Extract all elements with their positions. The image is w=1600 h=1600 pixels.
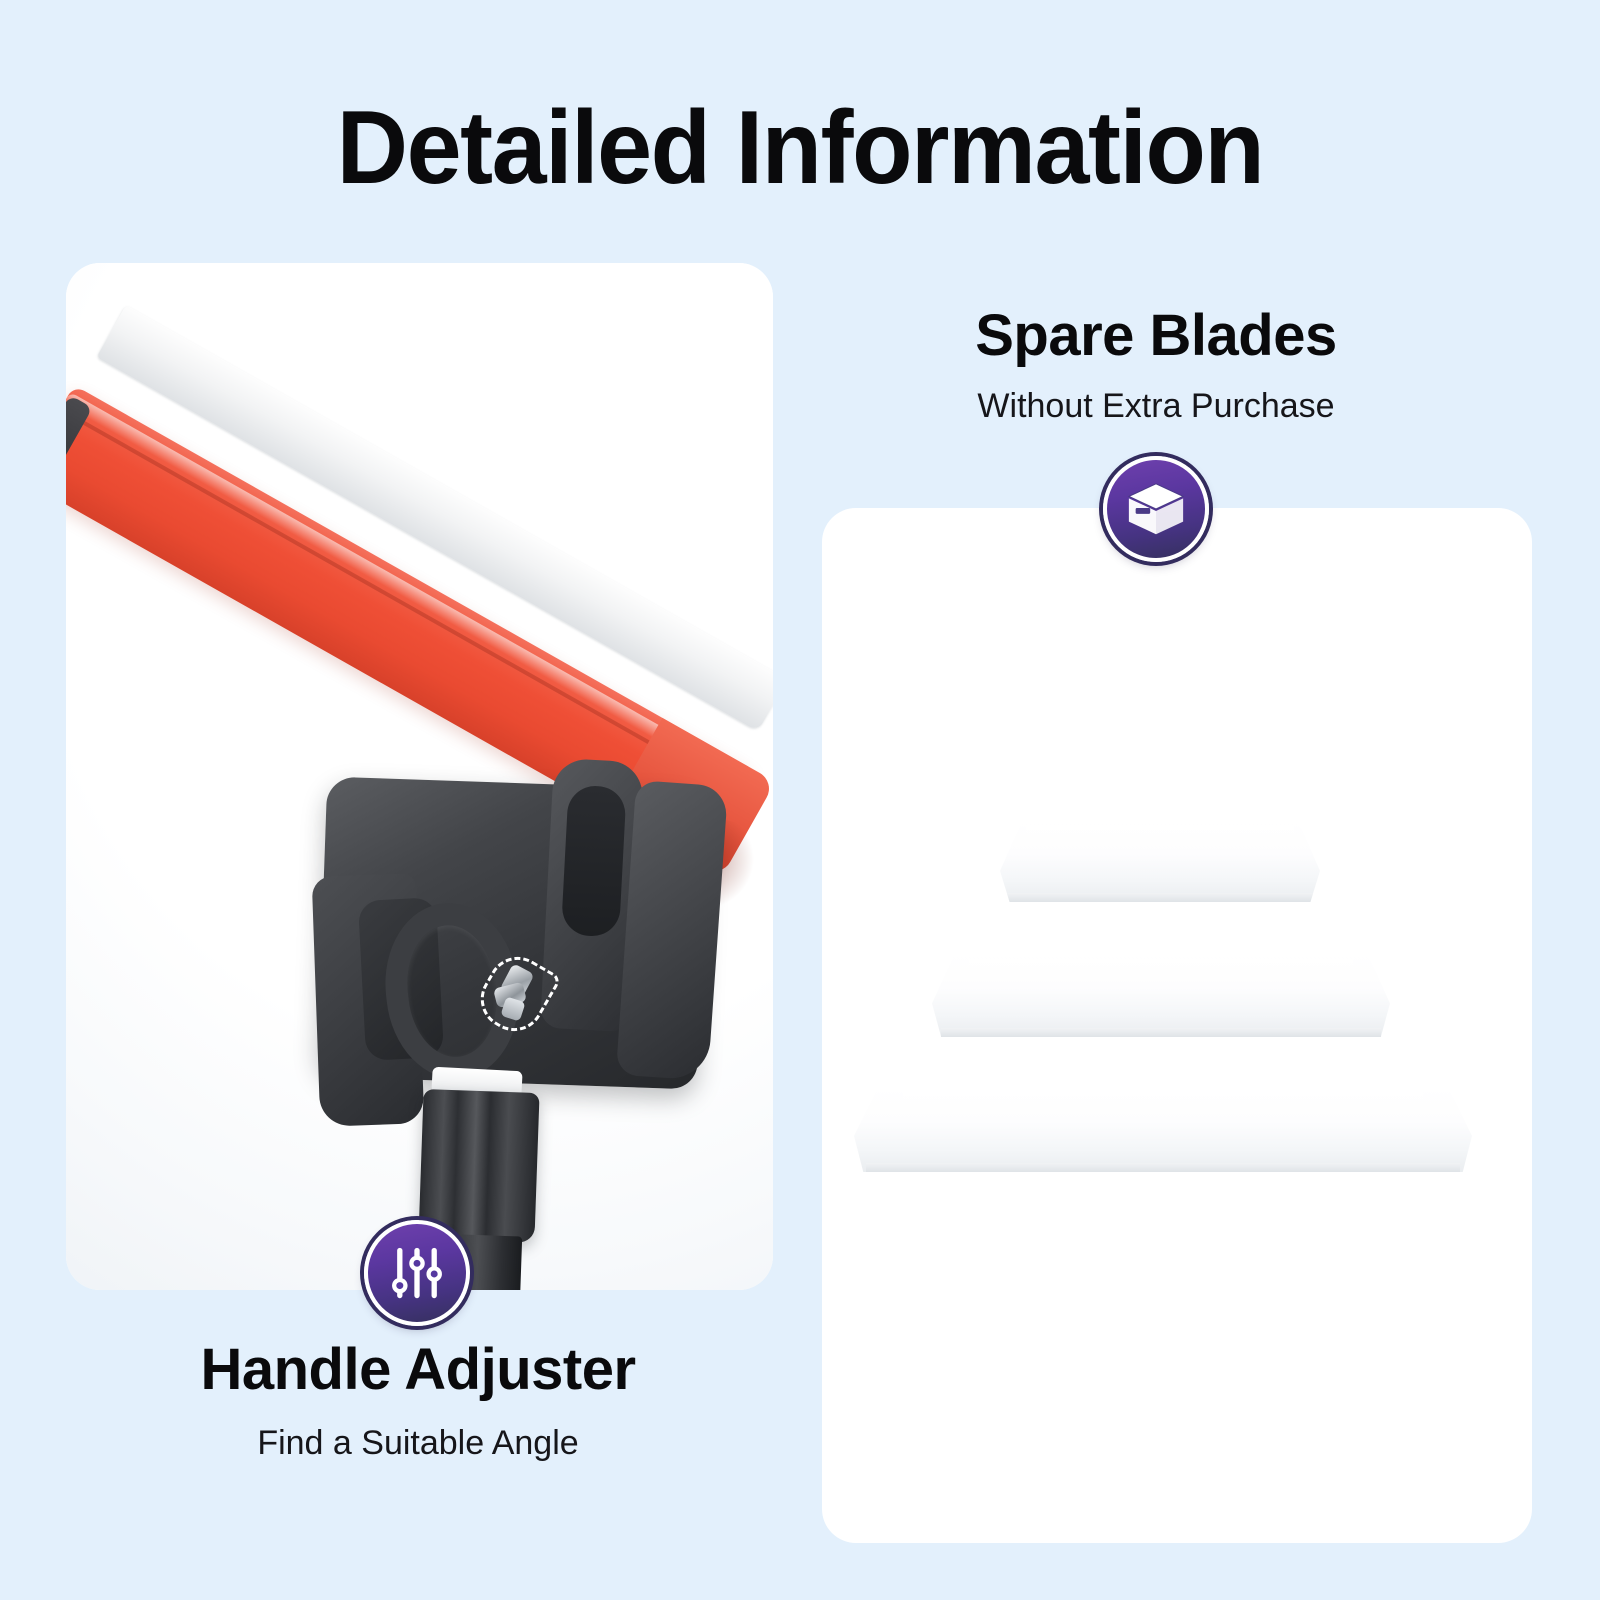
spare-blade-large [854, 1086, 1472, 1172]
handle-adjuster-subtitle: Find a Suitable Angle [68, 1425, 768, 1462]
blade-gloss [969, 959, 1354, 975]
blade-lip [866, 1163, 1459, 1172]
box-icon [1103, 456, 1209, 562]
blade-gloss [1026, 826, 1295, 842]
infographic-canvas: Detailed Information [0, 0, 1600, 1600]
page-title: Detailed Information [40, 96, 1560, 200]
spare-blade-medium [932, 953, 1390, 1037]
handle-adjuster-knurled-collar [418, 1089, 539, 1243]
blade-gloss [903, 1092, 1422, 1108]
sliders-icon [364, 1220, 470, 1326]
blade-lip [1006, 893, 1313, 902]
handle-adjuster-image-card [66, 263, 773, 1290]
spare-blades-title: Spare Blades [806, 306, 1506, 365]
spare-blade-small [1000, 820, 1320, 902]
squeegee-product-photo [66, 263, 773, 1290]
handle-adjuster-title: Handle Adjuster [68, 1340, 768, 1399]
spare-blades-image-card [822, 508, 1532, 1543]
spare-blades-subtitle: Without Extra Purchase [806, 388, 1506, 425]
clamp-right-arm [616, 780, 728, 1081]
blade-lip [941, 1028, 1381, 1037]
